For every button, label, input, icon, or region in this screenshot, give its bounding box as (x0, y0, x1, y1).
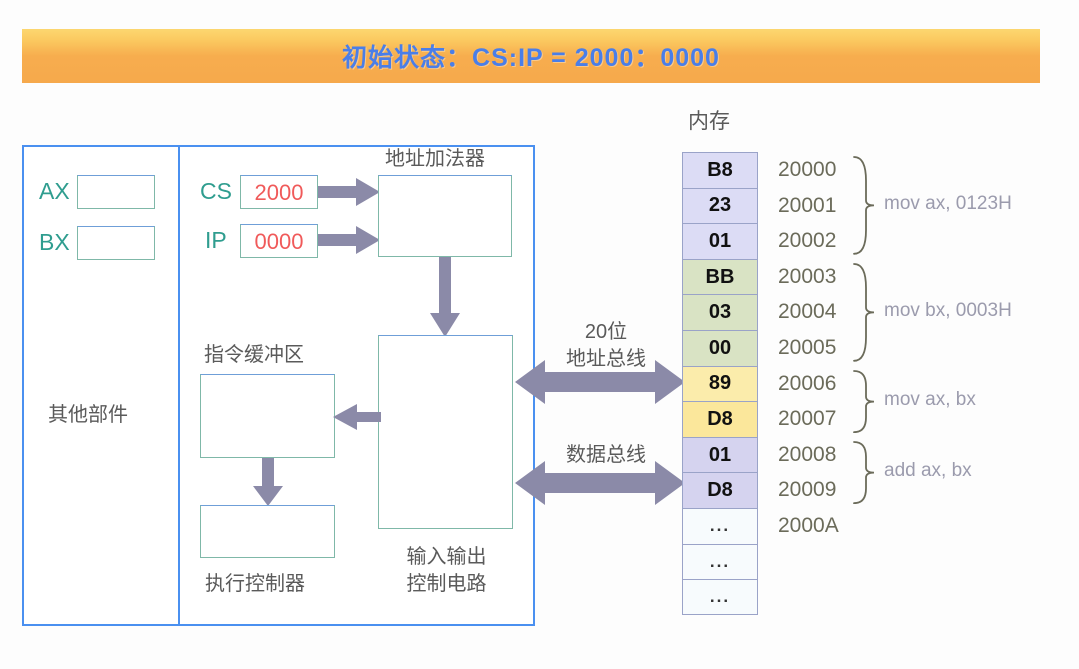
memory-address: 20002 (778, 229, 836, 253)
instruction-brace (852, 156, 876, 255)
arrow-buffer-to-controller (253, 458, 283, 506)
io-control-label-line2: 控制电路 (389, 572, 504, 597)
register-label-bx: BX (39, 229, 70, 256)
instruction-buffer-box (200, 374, 335, 458)
arrow-adder-to-io (430, 257, 460, 337)
execution-controller-box (200, 505, 335, 558)
cpu-panel-divider (178, 145, 180, 626)
register-label-ax: AX (39, 178, 70, 205)
memory-address: 20009 (778, 478, 836, 502)
data-bus-arrow (515, 459, 685, 507)
page-title: 初始状态：CS:IP = 2000：0000 (342, 38, 720, 74)
memory-address: 20006 (778, 372, 836, 396)
address-adder-label: 地址加法器 (385, 147, 485, 172)
instruction-text: mov ax, bx (884, 389, 976, 411)
memory-cell: ... (682, 579, 758, 615)
arrow-io-to-buffer (333, 402, 381, 432)
memory-address: 20005 (778, 336, 836, 360)
instruction-buffer-label: 指令缓冲区 (204, 343, 304, 368)
memory-cell: B8 (682, 152, 758, 188)
memory-cell: 01 (682, 437, 758, 473)
instruction-brace (852, 441, 876, 504)
memory-address: 20000 (778, 158, 836, 182)
arrow-ip-to-adder (318, 226, 380, 254)
memory-column: B82301BB030089D801D8......... (682, 152, 758, 615)
register-box-bx[interactable] (77, 226, 155, 260)
io-control-box (378, 335, 513, 529)
instruction-text: mov ax, 0123H (884, 193, 1012, 215)
memory-cell: 23 (682, 188, 758, 224)
memory-cell: D8 (682, 472, 758, 508)
title-bar: 初始状态：CS:IP = 2000：0000 (22, 29, 1040, 83)
io-control-label-line1: 输入输出 (389, 545, 504, 570)
execution-controller-label: 执行控制器 (205, 572, 305, 597)
memory-address: 20001 (778, 194, 836, 218)
register-box-ax[interactable] (77, 175, 155, 209)
memory-cell: 03 (682, 294, 758, 330)
memory-cell: BB (682, 259, 758, 295)
register-value-ip: 0000 (241, 225, 317, 259)
register-box-ip[interactable]: 0000 (240, 224, 318, 258)
address-adder-box (378, 175, 512, 257)
instruction-brace (852, 370, 876, 433)
other-components-label: 其他部件 (48, 403, 128, 428)
diagram-canvas: 初始状态：CS:IP = 2000：0000 其他部件 AX BX CS 200… (0, 0, 1079, 669)
memory-address: 2000A (778, 514, 839, 538)
memory-address: 20007 (778, 407, 836, 431)
memory-cell: ... (682, 508, 758, 544)
memory-cell: D8 (682, 401, 758, 437)
memory-cell: 00 (682, 330, 758, 366)
register-label-cs: CS (200, 178, 232, 205)
register-box-cs[interactable]: 2000 (240, 175, 318, 209)
memory-address: 20003 (778, 265, 836, 289)
instruction-brace (852, 263, 876, 362)
register-value-cs: 2000 (241, 176, 317, 210)
memory-cell: 89 (682, 366, 758, 402)
instruction-text: mov bx, 0003H (884, 300, 1012, 322)
memory-cell: 01 (682, 223, 758, 259)
memory-address: 20008 (778, 443, 836, 467)
address-bus-arrow (515, 358, 685, 406)
register-label-ip: IP (205, 227, 227, 254)
memory-cell: ... (682, 544, 758, 580)
memory-address: 20004 (778, 300, 836, 324)
address-bus-label-line1: 20位 (551, 320, 661, 345)
memory-title: 内存 (688, 105, 730, 135)
instruction-text: add ax, bx (884, 460, 972, 482)
arrow-cs-to-adder (318, 178, 380, 206)
